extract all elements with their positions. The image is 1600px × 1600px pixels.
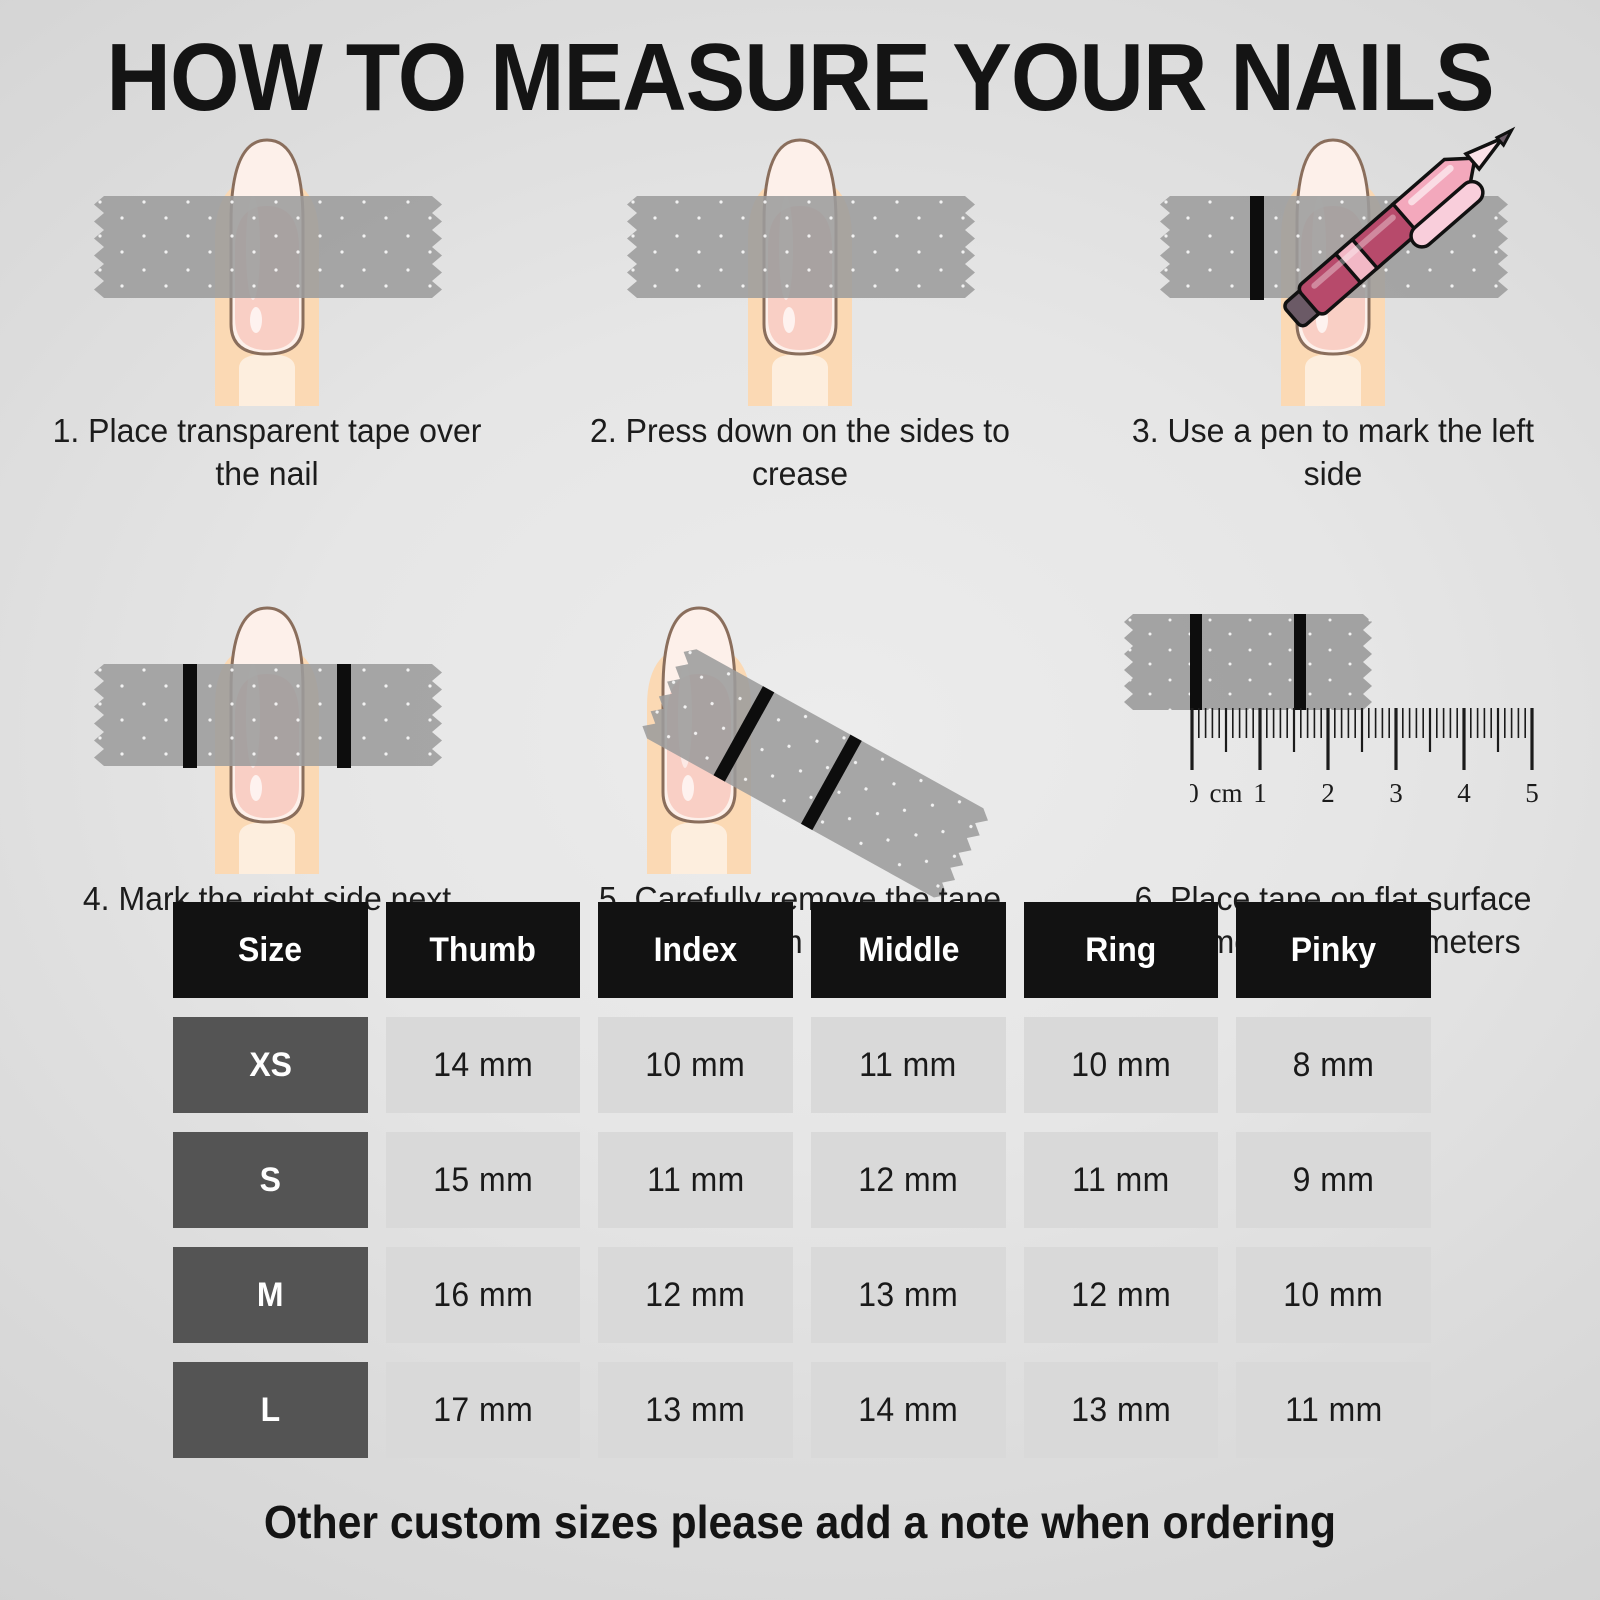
value-cell-ring: 12 mm (1024, 1247, 1219, 1343)
value-cell-thumb: 17 mm (386, 1362, 581, 1458)
value-cell-index: 11 mm (598, 1132, 793, 1228)
value-cell-middle: 11 mm (811, 1017, 1006, 1113)
value-label: 15 mm (433, 1161, 533, 1200)
value-cell-ring: 11 mm (1024, 1132, 1219, 1228)
value-label: 13 mm (646, 1391, 746, 1430)
value-label: 13 mm (1071, 1391, 1171, 1430)
step-3-illustration (1118, 118, 1548, 406)
value-label: 9 mm (1293, 1161, 1375, 1200)
steps-row-top: 1. Place transparent tape over the nail (0, 118, 1600, 496)
table-row: XS 14 mm 10 mm 11 mm 10 mm 8 mm (173, 1017, 1431, 1113)
step-4-illustration (52, 586, 482, 874)
size-label-cell: L (173, 1362, 368, 1458)
step-6-illustration: 0 cm 1 2 3 4 5 (1118, 586, 1548, 874)
table-row: S 15 mm 11 mm 12 mm 11 mm 9 mm (173, 1132, 1431, 1228)
column-header-ring: Ring (1024, 902, 1219, 998)
size-label: M (257, 1276, 284, 1315)
step-1: 1. Place transparent tape over the nail (0, 118, 533, 496)
step-1-caption: 1. Place transparent tape over the nail (39, 410, 495, 496)
step-2-illustration (585, 118, 1015, 406)
value-cell-pinky: 10 mm (1236, 1247, 1431, 1343)
footer-note: Other custom sizes please add a note whe… (56, 1495, 1544, 1549)
value-label: 17 mm (433, 1391, 533, 1430)
value-label: 10 mm (646, 1046, 746, 1085)
steps-section: 1. Place transparent tape over the nail (0, 118, 1600, 964)
size-label: XS (249, 1046, 292, 1085)
ruler-label-2: 2 (1321, 778, 1335, 808)
value-cell-middle: 13 mm (811, 1247, 1006, 1343)
value-label: 11 mm (1285, 1391, 1383, 1430)
step-3-caption: 3. Use a pen to mark the left side (1105, 410, 1561, 496)
value-label: 12 mm (646, 1276, 746, 1315)
value-label: 12 mm (1071, 1276, 1171, 1315)
ruler-label-5: 5 (1525, 778, 1539, 808)
value-label: 8 mm (1293, 1046, 1375, 1085)
size-label-cell: M (173, 1247, 368, 1343)
value-cell-pinky: 9 mm (1236, 1132, 1431, 1228)
tape-strip (627, 196, 975, 298)
value-label: 10 mm (1071, 1046, 1171, 1085)
tape-strip (94, 664, 442, 766)
ruler-label-3: 3 (1389, 778, 1403, 808)
value-cell-thumb: 16 mm (386, 1247, 581, 1343)
pen-icon (1248, 110, 1548, 340)
step-5-illustration (585, 586, 1015, 874)
table-header-row: Size Thumb Index Middle Ring Pinky (173, 902, 1431, 998)
ruler-unit-label: cm (1210, 778, 1243, 808)
column-header-size: Size (173, 902, 368, 998)
column-header-middle: Middle (811, 902, 1006, 998)
value-label: 11 mm (1072, 1161, 1170, 1200)
value-cell-index: 13 mm (598, 1362, 793, 1458)
ruler-label-4: 4 (1457, 778, 1471, 808)
value-cell-pinky: 11 mm (1236, 1362, 1431, 1458)
header-label: Thumb (430, 931, 537, 970)
value-label: 16 mm (433, 1276, 533, 1315)
column-header-pinky: Pinky (1236, 902, 1431, 998)
value-label: 11 mm (860, 1046, 958, 1085)
tape-strip (94, 196, 442, 298)
step-2: 2. Press down on the sides to crease (533, 118, 1066, 496)
value-cell-ring: 13 mm (1024, 1362, 1219, 1458)
infographic-root: HOW TO MEASURE YOUR NAILS (0, 0, 1600, 1600)
left-mark (1190, 614, 1202, 710)
right-mark (1294, 614, 1306, 710)
size-label-cell: XS (173, 1017, 368, 1113)
value-label: 10 mm (1284, 1276, 1384, 1315)
size-table: Size Thumb Index Middle Ring Pinky XS 14… (173, 902, 1431, 1477)
value-cell-pinky: 8 mm (1236, 1017, 1431, 1113)
tape-strip-flat (1124, 614, 1372, 710)
left-mark (183, 664, 197, 768)
value-label: 14 mm (858, 1391, 958, 1430)
value-cell-middle: 12 mm (811, 1132, 1006, 1228)
value-cell-thumb: 15 mm (386, 1132, 581, 1228)
step-2-caption: 2. Press down on the sides to crease (572, 410, 1028, 496)
column-header-index: Index (598, 902, 793, 998)
value-cell-thumb: 14 mm (386, 1017, 581, 1113)
value-label: 12 mm (858, 1161, 958, 1200)
step-1-illustration (52, 118, 482, 406)
value-label: 14 mm (433, 1046, 533, 1085)
step-3: 3. Use a pen to mark the left side (1067, 118, 1600, 496)
ruler-label-0: 0 (1190, 778, 1199, 808)
value-label: 11 mm (647, 1161, 745, 1200)
table-row: M 16 mm 12 mm 13 mm 12 mm 10 mm (173, 1247, 1431, 1343)
header-label: Index (654, 931, 737, 970)
ruler-label-1: 1 (1253, 778, 1267, 808)
column-header-thumb: Thumb (386, 902, 581, 998)
header-label: Size (238, 931, 302, 970)
header-label: Middle (858, 931, 959, 970)
value-cell-ring: 10 mm (1024, 1017, 1219, 1113)
size-label: S (260, 1161, 281, 1200)
table-row: L 17 mm 13 mm 14 mm 13 mm 11 mm (173, 1362, 1431, 1458)
header-label: Ring (1086, 931, 1157, 970)
ruler-icon: 0 cm 1 2 3 4 5 (1190, 708, 1550, 818)
value-cell-index: 10 mm (598, 1017, 793, 1113)
value-cell-index: 12 mm (598, 1247, 793, 1343)
right-mark (337, 664, 351, 768)
value-label: 13 mm (858, 1276, 958, 1315)
value-cell-middle: 14 mm (811, 1362, 1006, 1458)
header-label: Pinky (1291, 931, 1376, 970)
size-label: L (261, 1391, 281, 1430)
size-label-cell: S (173, 1132, 368, 1228)
